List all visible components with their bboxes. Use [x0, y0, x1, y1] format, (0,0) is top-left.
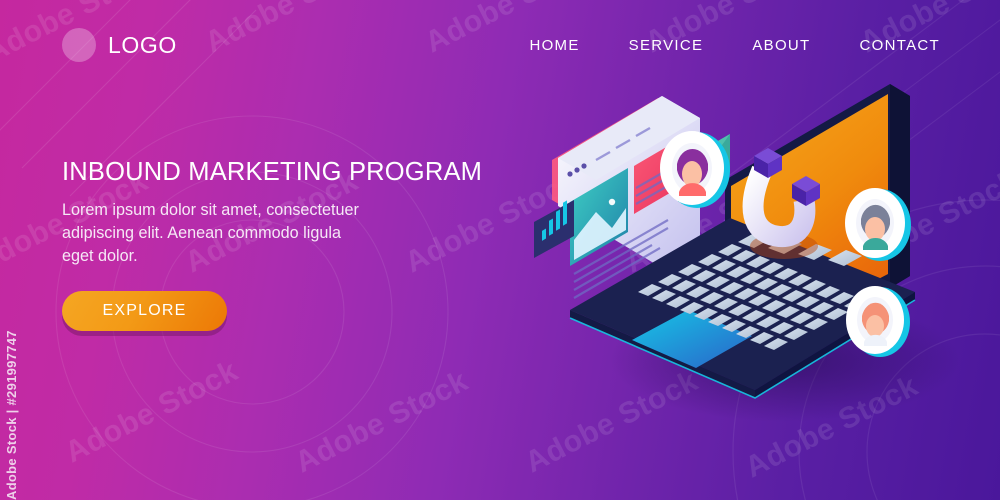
- nav-item-service[interactable]: SERVICE: [629, 37, 704, 54]
- page-title: INBOUND MARKETING PROGRAM: [62, 158, 462, 186]
- chart-badge-icon: [534, 200, 574, 258]
- hero-description: Lorem ipsum dolor sit amet, consectetuer…: [62, 199, 362, 268]
- main-nav: HOME SERVICE ABOUT CONTACT: [529, 37, 940, 54]
- hero-content: INBOUND MARKETING PROGRAM Lorem ipsum do…: [62, 158, 462, 331]
- watermark: Adobe Stock: [290, 364, 474, 480]
- nav-item-home[interactable]: HOME: [529, 37, 579, 54]
- watermark: Adobe Stock: [60, 354, 244, 470]
- nav-item-contact[interactable]: CONTACT: [860, 37, 940, 54]
- brand-logo[interactable]: LOGO: [62, 28, 177, 62]
- hero-banner: Adobe Stock Adobe Stock Adobe Stock Adob…: [0, 0, 1000, 500]
- stock-credit: Adobe Stock | #291997747: [4, 330, 19, 500]
- explore-button[interactable]: EXPLORE: [62, 291, 227, 331]
- hero-illustration: [540, 60, 1000, 440]
- illustration-svg: [540, 60, 1000, 440]
- brand-label: LOGO: [108, 32, 177, 59]
- nav-item-about[interactable]: ABOUT: [752, 37, 810, 54]
- circle-logo-icon: [62, 28, 96, 62]
